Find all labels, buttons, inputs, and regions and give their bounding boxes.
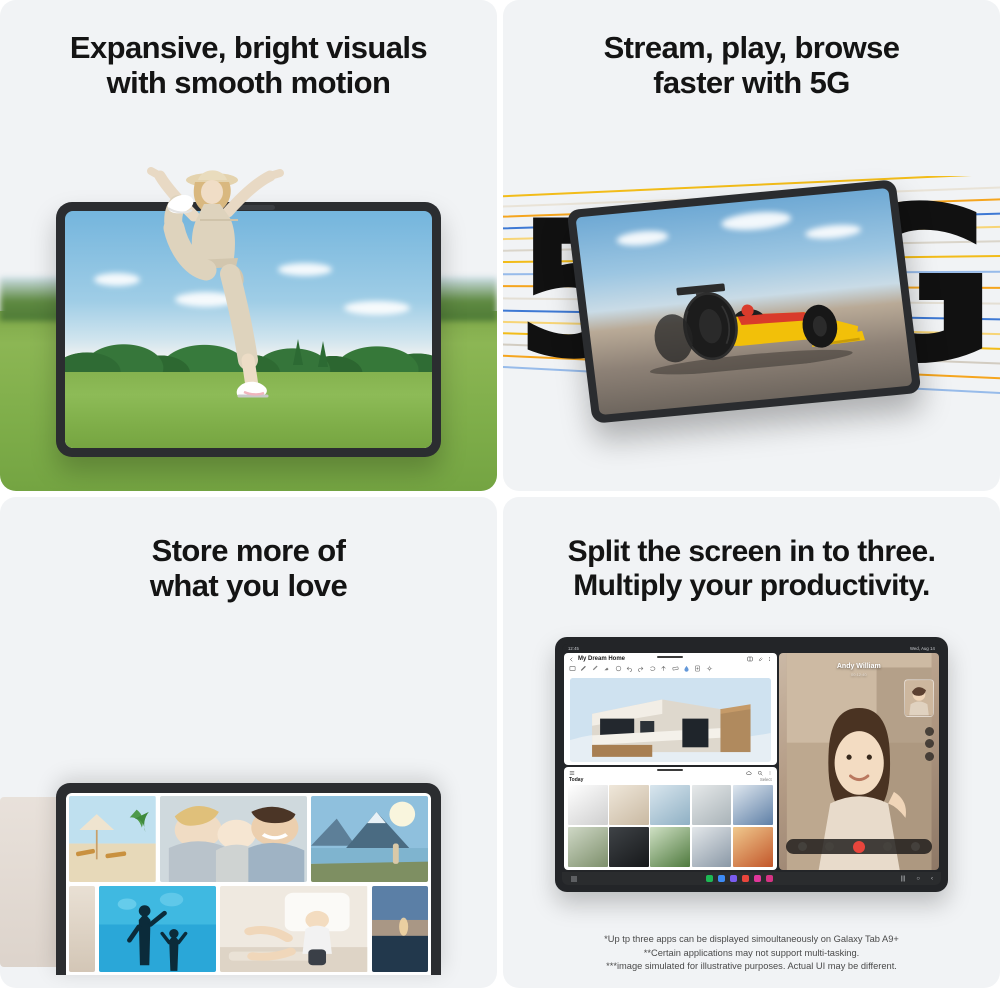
thumbnail-window-seat[interactable] [692,785,732,825]
gallery-app-header [564,767,777,777]
panel-5g: Stream, play, browse faster with 5G [503,0,1000,491]
redo-icon[interactable] [637,665,644,672]
undo-icon[interactable] [626,665,633,672]
photo-mountain-lake-sunburst [311,796,428,882]
footnote-3: ***image simulated for illustrative purp… [503,960,1000,974]
back-arrow-icon[interactable] [569,657,574,662]
notes-canvas[interactable] [564,675,777,765]
app-drawer-icon[interactable] [570,875,578,883]
cloud-sync-icon[interactable] [746,770,752,776]
photo-beach-umbrella-loungers [69,796,156,882]
status-bar: 12:45 Wed, Aug 14 [562,644,941,653]
eraser-icon[interactable] [603,665,610,672]
thumbnail-artwork[interactable] [568,785,608,825]
tablet-screen-5g [576,188,913,415]
gallery-section-row: Today Select [564,777,777,785]
menu-icon[interactable] [569,770,575,776]
text-box-icon[interactable] [569,665,576,672]
thumbnail-dark-portrait[interactable] [609,827,649,867]
effects-button[interactable] [925,727,934,736]
layout-button[interactable] [925,752,934,761]
panel-storage-heading: Store more of what you love [0,497,497,604]
video-call-pane[interactable]: Andy William 00:12:40 [779,653,939,870]
heading-line-1: Store more of [0,533,497,568]
recents-button[interactable]: ||| [901,876,906,882]
home-button[interactable]: ○ [916,876,920,882]
switch-camera-button[interactable] [925,739,934,748]
self-view-thumbnail[interactable] [904,679,934,717]
heading-line-1: Split the screen in to three. [503,535,1000,569]
attachment-icon[interactable] [757,656,763,662]
panel-display: Expansive, bright visuals with smooth mo… [0,0,497,491]
speaker-button[interactable] [883,842,892,851]
cloud-shape [805,223,862,241]
status-bar-time: 12:45 [568,646,579,651]
thumbnail-cactus-plant[interactable] [650,827,690,867]
gallery-select-button[interactable]: Select [760,777,772,783]
footnote-1: *Up tp three apps can be displayed simou… [503,933,1000,947]
tablet-screen-gallery [66,793,431,975]
photo-family-mother-father-baby [160,796,307,882]
house-sketch-image [570,678,771,762]
cloud-shape [344,301,410,315]
thumbnail-person-reading[interactable] [692,827,732,867]
photo-edge-left [69,886,95,972]
panel-5g-heading: Stream, play, browse faster with 5G [503,0,1000,101]
video-call-duration: 00:12:40 [779,672,939,677]
tablet-device-5g [567,179,922,423]
video-call-controls [786,839,932,854]
camera-app-icon[interactable] [766,875,774,883]
gallery-section-label: Today [569,777,583,783]
ruler-icon[interactable] [672,665,679,672]
thumbnail-family-outdoors[interactable] [568,827,608,867]
split-view-icon[interactable] [747,656,753,662]
heading-line-2: what you love [0,568,497,603]
taskbar-app-icons [706,875,774,883]
formula1-car-illustration [608,254,883,382]
settings-icon[interactable] [706,665,713,672]
shape-circle-icon[interactable] [615,665,622,672]
gallery-app-pane[interactable]: Today Select [564,767,777,870]
video-call-callee-name: Andy William [779,663,939,670]
panel-display-heading: Expansive, bright visuals with smooth mo… [0,0,497,101]
notes-toolbar [564,665,777,675]
pen-icon[interactable] [580,665,587,672]
left-pane-column: My Dream Home [564,653,777,870]
more-options-icon[interactable] [767,656,772,662]
split-screen-panes: My Dream Home [562,653,941,872]
back-button[interactable]: ‹ [931,876,933,882]
add-page-icon[interactable] [694,665,701,672]
cloud-shape [615,229,668,248]
panel-multitasking: Split the screen in to three. Multiply y… [503,497,1000,988]
gallery-thumbnail-grid [564,785,777,870]
share-icon[interactable] [660,665,667,672]
color-picker-icon[interactable] [683,665,690,672]
photo-aquarium-silhouettes [99,886,216,972]
tablet-device-multitasking: 12:45 Wed, Aug 14 My Dream Home [555,637,948,892]
heading-line-2: Multiply your productivity. [503,569,1000,603]
cloud-shape [721,209,793,232]
drag-handle-icon[interactable] [657,769,683,771]
mute-button[interactable] [798,842,807,851]
heading-line-1: Stream, play, browse [503,30,1000,65]
photo-toddler-first-steps-livingroom [220,886,367,972]
heading-line-1: Expansive, bright visuals [0,30,497,65]
contacts-app-icon[interactable] [730,875,738,883]
footnote-2: **Certain applications may not support m… [503,947,1000,961]
settings-app-icon[interactable] [754,875,762,883]
search-icon[interactable] [757,770,763,776]
feature-panel-grid: Expansive, bright visuals with smooth mo… [0,0,1000,1000]
jumping-woman-illustration [120,120,320,420]
lasso-select-icon[interactable] [649,665,656,672]
files-app-icon[interactable] [742,875,750,883]
more-call-options-button[interactable] [911,842,920,851]
thumbnail-dining-room[interactable] [609,785,649,825]
notes-app-title: My Dream Home [578,656,625,662]
notes-app-header: My Dream Home [564,653,777,665]
navigation-bar: ||| ○ ‹ [901,876,933,882]
tablet-device-gallery [56,783,441,975]
thumbnail-food-plate[interactable] [733,827,773,867]
tablet-screen-multitasking: 12:45 Wed, Aug 14 My Dream Home [562,644,941,885]
notes-app-pane[interactable]: My Dream Home [564,653,777,765]
status-bar-date: Wed, Aug 14 [910,646,935,651]
end-call-button[interactable] [853,841,865,853]
heading-line-2: faster with 5G [503,65,1000,100]
heading-line-2: with smooth motion [0,65,497,100]
photo-beach-sunset [372,886,429,972]
more-options-icon[interactable] [768,770,772,776]
highlighter-icon[interactable] [592,665,599,672]
phone-app-icon[interactable] [706,875,714,883]
taskbar: ||| ○ ‹ [562,872,941,885]
panel-multitasking-heading: Split the screen in to three. Multiply y… [503,497,1000,603]
footnotes: *Up tp three apps can be displayed simou… [503,933,1000,974]
drag-handle-icon[interactable] [657,656,683,658]
messages-app-icon[interactable] [718,875,726,883]
thumbnail-blue-sofa[interactable] [733,785,773,825]
video-call-side-controls [925,727,934,761]
camera-toggle-button[interactable] [825,842,834,851]
panel-storage: Store more of what you love [0,497,497,988]
thumbnail-seaside-chair[interactable] [650,785,690,825]
